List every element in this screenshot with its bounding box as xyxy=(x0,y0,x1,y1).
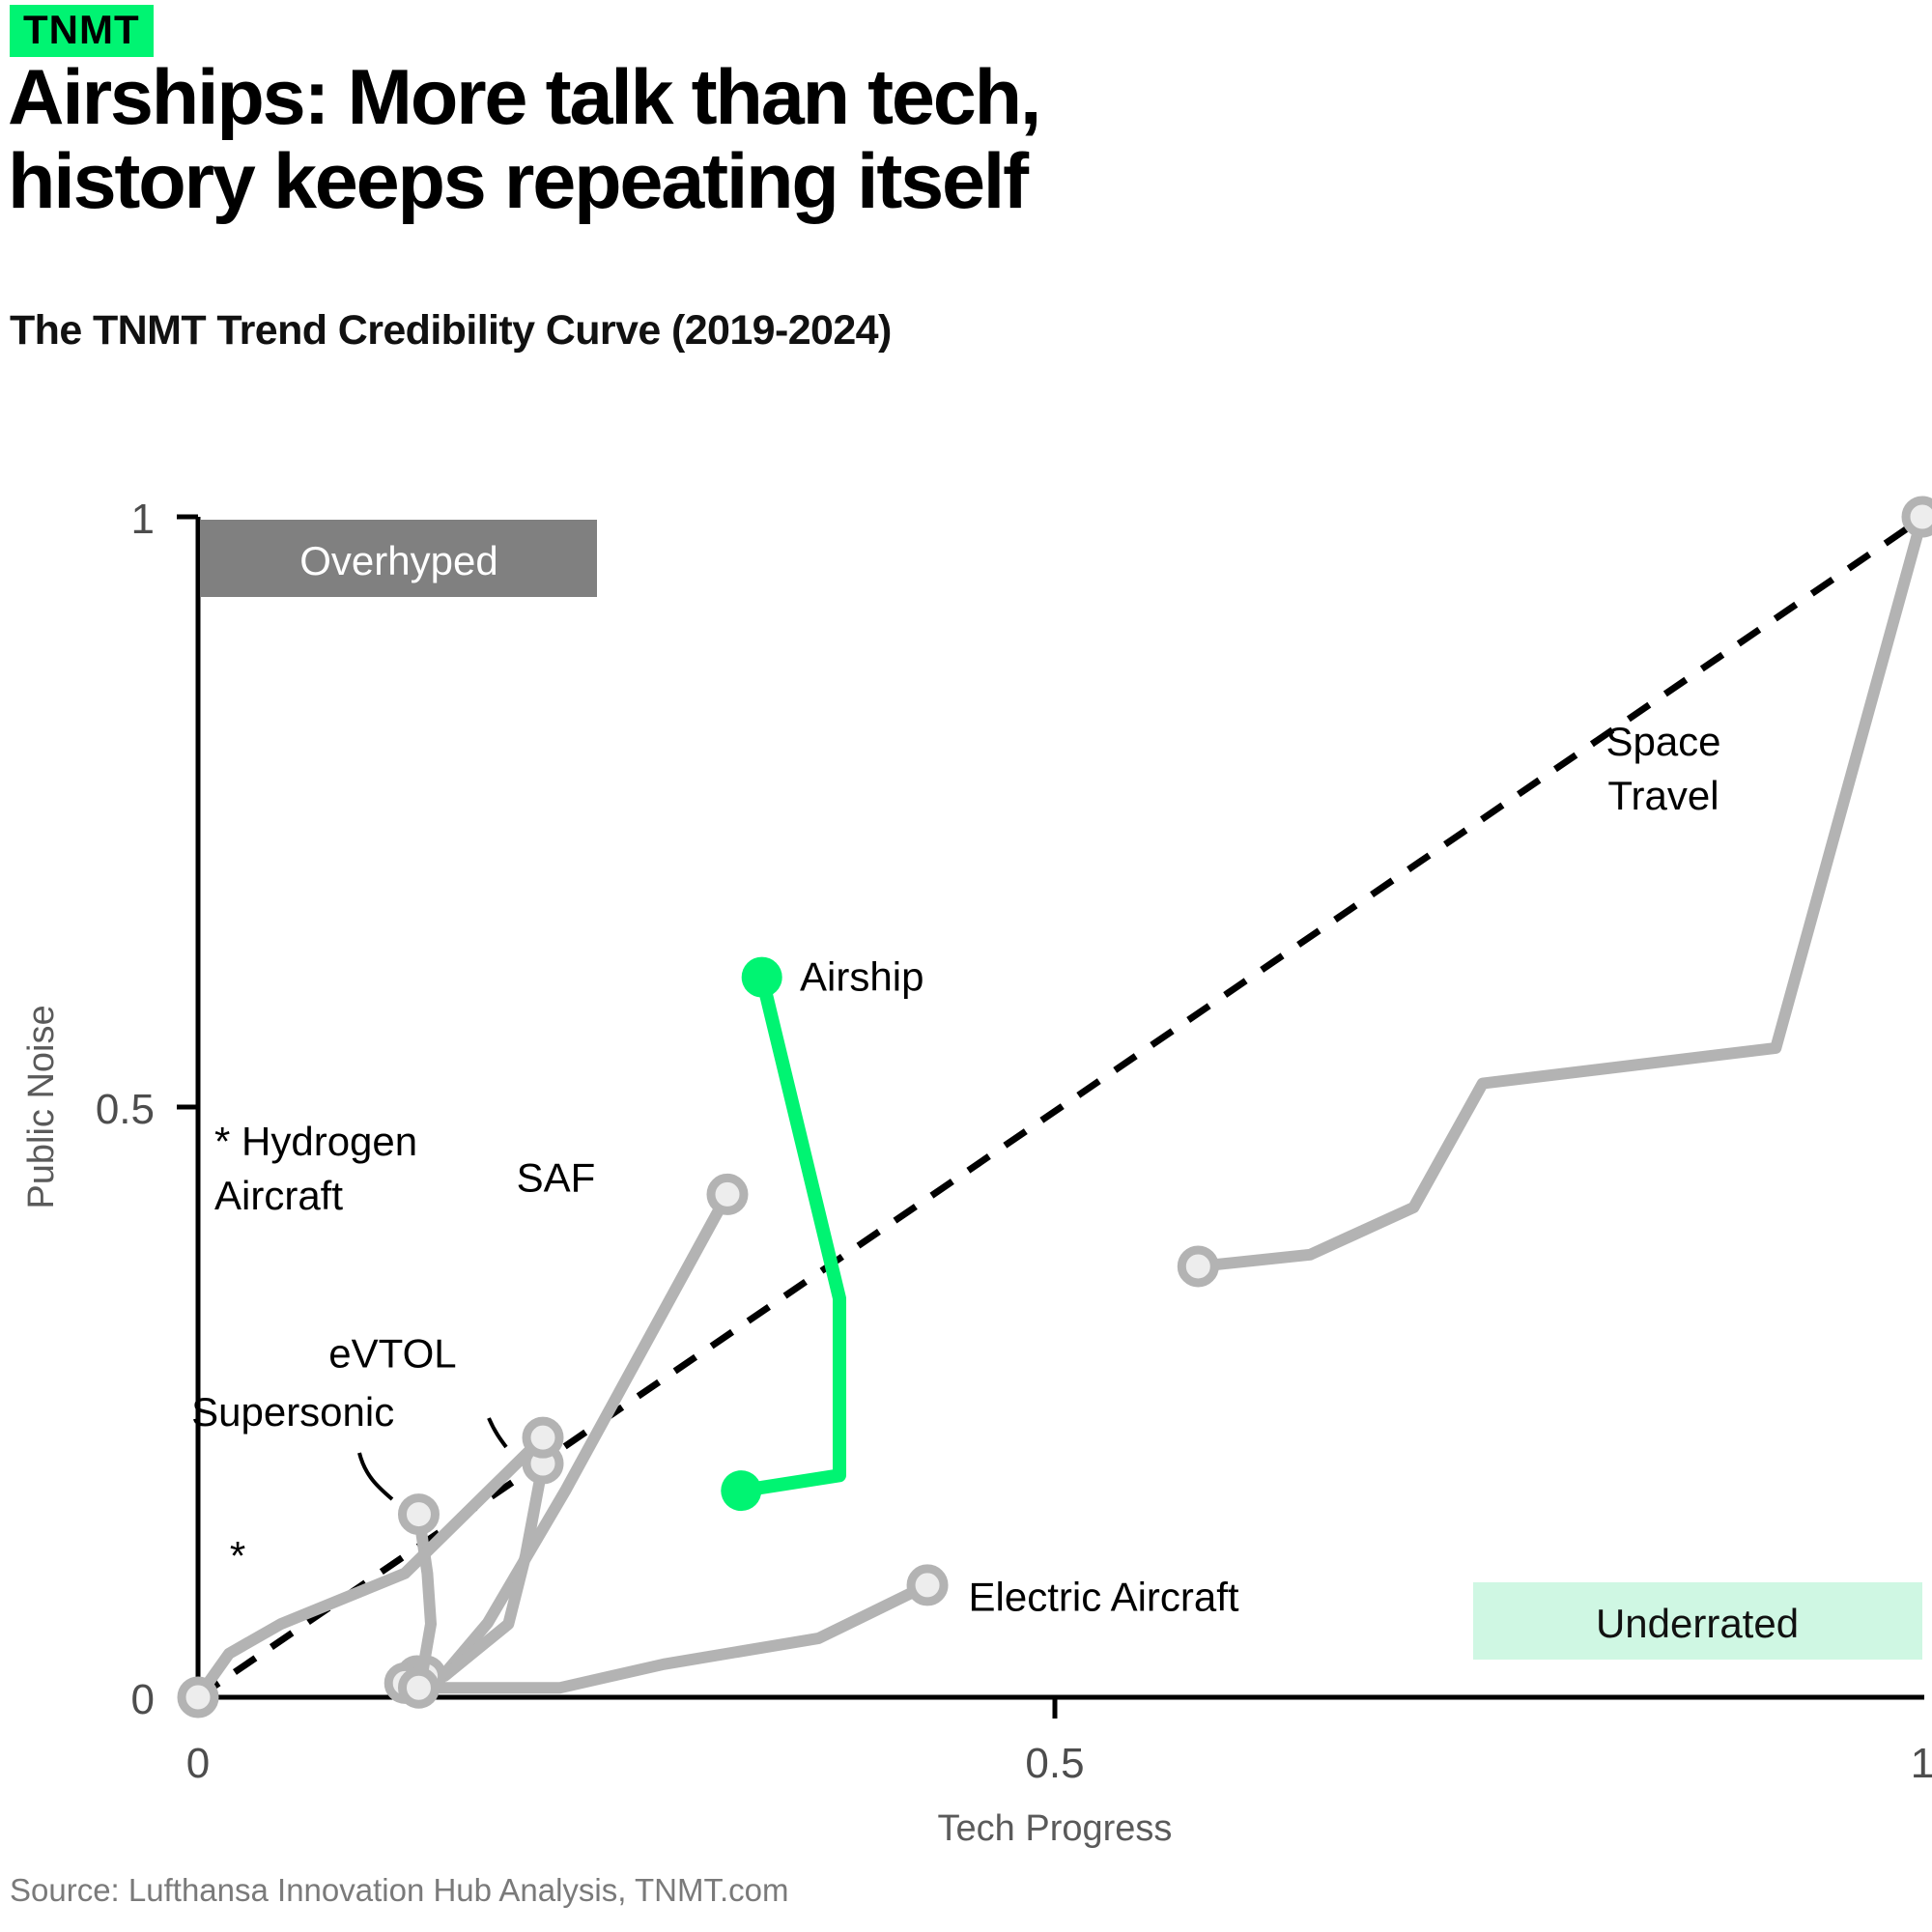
series-line xyxy=(741,978,839,1492)
x-tick-label-0: 0 xyxy=(186,1740,210,1787)
overhyped-zone-label: Overhyped xyxy=(299,538,497,583)
series-label-electric-aircraft: Electric Aircraft xyxy=(969,1574,1239,1619)
series-endpoint-marker xyxy=(182,1681,214,1714)
series-space-travel xyxy=(1181,500,1932,1283)
series-label-supersonic: Supersonic xyxy=(191,1389,394,1435)
series-airship: Airship xyxy=(721,954,923,1512)
series-endpoint-marker xyxy=(711,1178,744,1210)
space-travel-label-line2: Travel xyxy=(1607,773,1719,818)
underrated-zone-label: Underrated xyxy=(1596,1601,1799,1646)
chart-page: TNMT Airships: More talk than tech, hist… xyxy=(0,0,1932,1932)
hydrogen-asterisk-marker: * xyxy=(230,1533,245,1578)
series-saf: SAF xyxy=(401,1155,744,1692)
series-endpoint-marker xyxy=(1181,1250,1214,1283)
trend-credibility-scatter-plot: Overhyped Underrated 1 0.5 0 0 0.5 1 Tec… xyxy=(0,0,1932,1932)
series-endpoint-marker xyxy=(526,1421,559,1454)
series-label-airship: Airship xyxy=(800,954,923,1000)
y-tick-label-0: 0 xyxy=(131,1676,155,1723)
series-endpoint-marker xyxy=(911,1569,944,1602)
hydrogen-footnote-line1: * Hydrogen xyxy=(214,1119,417,1164)
space-travel-label-line1: Space xyxy=(1605,719,1720,764)
supersonic-leader-line xyxy=(359,1453,392,1499)
series-label-evtol: eVTOL xyxy=(328,1331,456,1377)
series-endpoint-marker xyxy=(402,1498,435,1531)
x-axis-title: Tech Progress xyxy=(938,1808,1173,1849)
y-tick-label-1: 1 xyxy=(131,496,155,543)
y-tick-label-0point5: 0.5 xyxy=(96,1086,155,1133)
x-tick-label-1: 1 xyxy=(1911,1740,1932,1787)
series-endpoint-marker xyxy=(402,1671,435,1704)
series-label-saf: SAF xyxy=(517,1155,596,1201)
evtol-leader-line xyxy=(489,1418,506,1447)
x-tick-label-0point5: 0.5 xyxy=(1025,1740,1084,1787)
series-electric-aircraft: Electric Aircraft xyxy=(402,1569,1238,1704)
y-axis-title: Public Noise xyxy=(21,1005,62,1208)
series-endpoint-marker xyxy=(742,957,782,998)
series-endpoint-marker xyxy=(1906,500,1932,533)
hydrogen-footnote-line2: Aircraft xyxy=(214,1173,343,1218)
series-evtol: eVTOL xyxy=(328,1331,559,1692)
series-line xyxy=(417,1194,727,1676)
series-line xyxy=(1198,517,1922,1266)
series-endpoint-marker xyxy=(721,1470,761,1511)
